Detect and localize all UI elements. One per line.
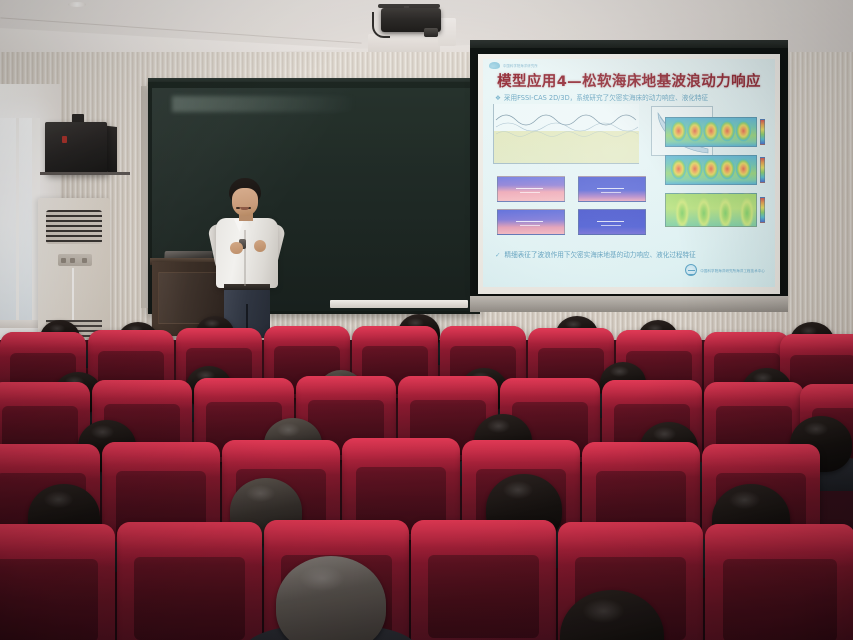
presenter-left-hand [230,242,243,254]
hair-highlight [246,485,275,502]
projected-slide: 中国科学院海洋研究所 模型应用4—松软海床地基波浪动力响应 ❖采用FSSI-CA… [483,59,775,287]
auditorium-seat[interactable] [411,520,556,640]
slide-footer-logo: 中国科学院海洋研究所海洋工程技术中心 [685,264,765,276]
slide-bullet-bottom: ✓精细表征了波浪作用下欠密实海床地基的动力响应、液化过程特征 [495,249,770,259]
auditorium-seat[interactable] [0,524,115,640]
projector-lens [424,28,438,37]
wave-curves [494,104,640,164]
hair-highlight [583,599,625,623]
hair-highlight [277,423,300,437]
hair-highlight [487,419,510,433]
liquefaction-contour-3 [665,193,757,227]
slide-bullet-top-text: 采用FSSI-CAS 2D/3D，系统研究了欠密实海床的动力响应、液化特征 [504,94,708,102]
ac-button[interactable] [82,258,87,263]
pore-pressure-panel-d [578,209,646,235]
hair-highlight [503,481,533,499]
presenter-right-hand [254,240,266,252]
panel-annotation-line [516,221,542,222]
slide-title: 模型应用4—松软海床地基波浪动力响应 [483,70,775,91]
panel-annotation-line [601,192,621,193]
auditorium-seat[interactable] [705,524,853,640]
contour-colorbar-3 [760,197,765,223]
diamond-bullet-icon: ❖ [495,94,501,102]
contour-colorbar-1 [760,119,765,145]
presenter-mouth [240,207,249,210]
institute-seal-icon [685,264,697,276]
liquefaction-contour-2 [665,155,757,185]
institute-logo-icon [489,62,500,69]
hair-highlight [653,427,676,441]
panel-annotation-line [597,221,623,222]
wall-speaker [45,122,107,174]
ac-button[interactable] [61,258,66,263]
slide-footer-org-text: 中国科学院海洋研究所海洋工程技术中心 [700,268,765,273]
slide-brand-text: 中国科学院海洋研究所 [503,63,538,68]
ac-button[interactable] [70,258,75,263]
ceiling-downlight [68,2,86,7]
panel-annotation-line [520,225,540,226]
slide-brand-bar: 中国科学院海洋研究所 [489,62,589,69]
pore-pressure-panel-c [578,176,646,202]
pore-pressure-panel-a [497,176,565,202]
hair-highlight [204,319,219,328]
projector-cable [372,12,390,38]
panel-annotation-line [520,192,540,193]
lecture-hall-scene: 中国科学院海洋研究所 模型应用4—松软海床地基波浪动力响应 ❖采用FSSI-CA… [0,0,853,640]
liquefaction-contour-1 [665,117,757,147]
slide-bullet-bottom-text: 精细表征了波浪作用下欠密实海床地基的动力响应、液化过程特征 [505,251,696,259]
pore-pressure-panel-b [497,209,565,235]
ac-upper-grille [46,210,102,244]
panel-annotation-line [516,188,542,189]
panel-annotation-line [597,188,623,189]
wave-profile-plot [493,104,639,164]
hair-highlight [804,422,829,437]
auditorium-seat[interactable] [117,522,262,640]
hair-highlight [300,566,344,591]
contour-colorbar-2 [760,157,765,183]
presenter-belt [224,284,270,290]
panel-annotation-line [601,225,621,226]
chalkboard-glare [172,96,402,112]
slide-bullet-top: ❖采用FSSI-CAS 2D/3D，系统研究了欠密实海床的动力响应、液化特征 [495,92,770,102]
presenter-shirt [216,218,278,288]
window-mullion [16,118,19,323]
speaker-led [62,136,67,143]
seating-area [0,300,853,640]
hair-highlight [610,366,628,377]
hair-highlight [44,491,73,508]
presenter-face [232,188,258,216]
hair-highlight [729,491,760,509]
check-bullet-icon: ✓ [495,251,501,259]
wall-rail [40,172,130,175]
hair-highlight [91,425,114,439]
